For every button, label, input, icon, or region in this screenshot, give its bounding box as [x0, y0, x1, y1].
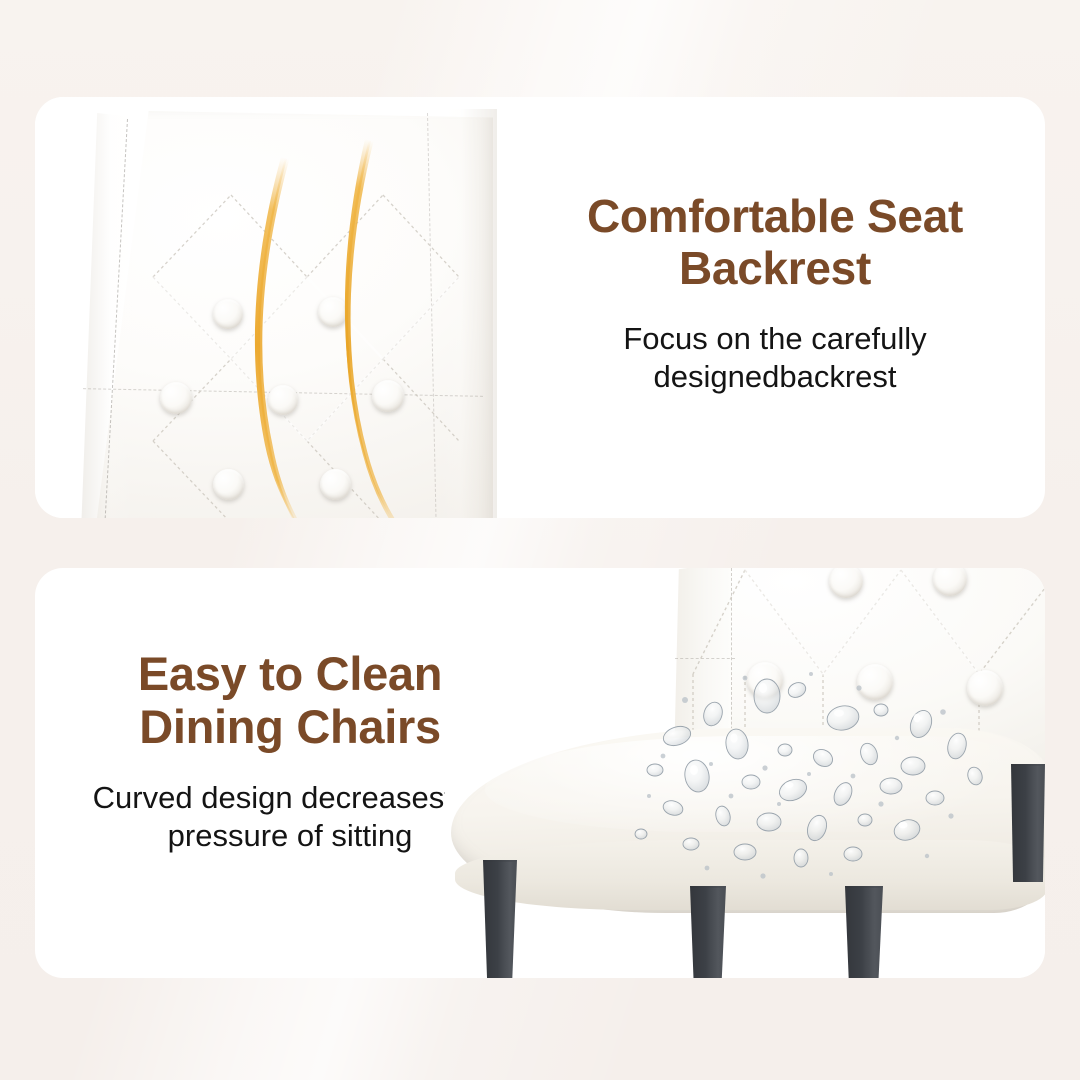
- seat-front-band: [455, 840, 1045, 910]
- panel-subtitle-line1: Focus on the carefully: [505, 320, 1045, 358]
- panel-heading: Comfortable Seat Backrest: [505, 191, 1045, 294]
- tufting-button: [372, 380, 404, 412]
- tufting-button: [857, 664, 893, 700]
- feature-card-easy-to-clean-dining-chairs: Easy to Clean Dining Chairs Curved desig…: [35, 568, 1045, 978]
- panel-subtitle: Focus on the carefully designedbackrest: [505, 320, 1045, 396]
- dining-chair-photo: [445, 568, 1045, 978]
- feature-card-comfortable-seat-backrest: Comfortable Seat Backrest Focus on the c…: [35, 97, 1045, 518]
- panel-heading-line1: Comfortable Seat: [505, 191, 1045, 243]
- diamond-tufting-pattern: [35, 97, 505, 518]
- tufting-button: [320, 469, 351, 500]
- tufting-button: [160, 382, 192, 414]
- chair-leg-front-mid: [690, 886, 726, 978]
- tufting-button: [213, 299, 243, 329]
- chair-leg-front-left: [483, 860, 517, 978]
- tufting-button: [318, 297, 348, 327]
- page-background: Comfortable Seat Backrest Focus on the c…: [0, 0, 1080, 1080]
- panel-text-comfortable-seat-backrest: Comfortable Seat Backrest Focus on the c…: [505, 191, 1045, 396]
- tufting-button: [268, 385, 298, 415]
- tufting-button: [213, 469, 244, 500]
- seat-highlight: [485, 736, 1025, 832]
- panel-heading-line2: Backrest: [505, 243, 1045, 295]
- panel-subtitle-line2: designedbackrest: [505, 358, 1045, 396]
- tufting-button: [967, 670, 1003, 706]
- backrest-photo: [35, 97, 505, 518]
- chair-leg-front-right: [845, 886, 883, 978]
- tufting-button: [747, 662, 783, 698]
- chair-leg-rear-right: [1011, 764, 1045, 882]
